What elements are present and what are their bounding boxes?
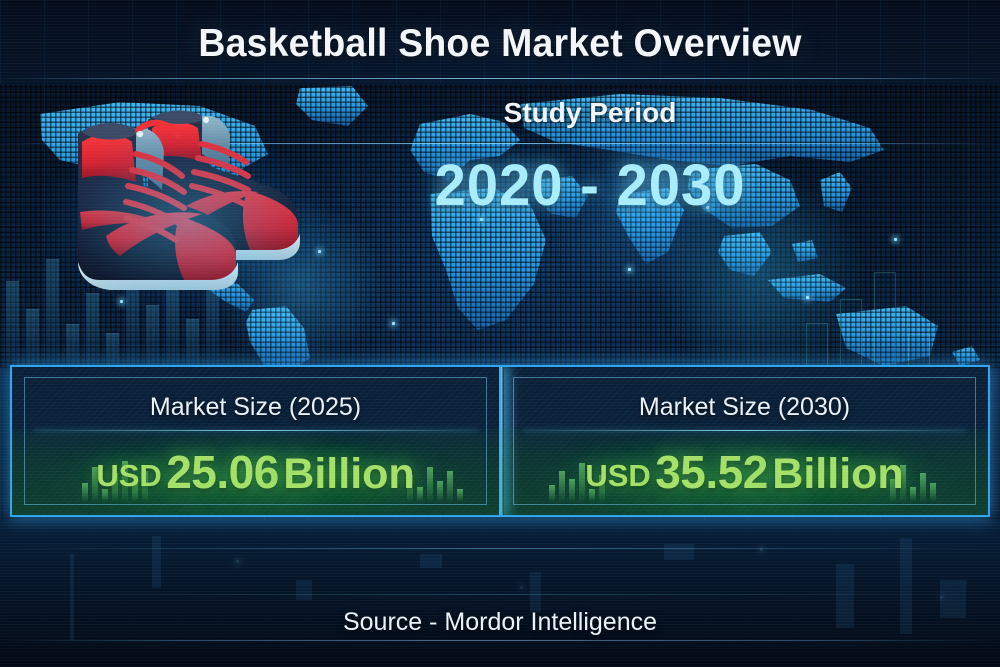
card-divider-line [523, 430, 966, 431]
amount-2025: 25.06 [166, 446, 279, 498]
unit-2025: Billion [283, 450, 414, 498]
card-label-2030: Market Size (2030) [501, 393, 988, 422]
study-period-label: Study Period [330, 97, 850, 129]
card-value-2025: USD 25.06 Billion [12, 445, 499, 499]
amount-2030: 35.52 [655, 446, 768, 498]
currency-2025: USD [96, 458, 161, 493]
bottom-texture-panel [0, 520, 1000, 667]
market-size-cards: Market Size (2025) USD 25.06 Billion Mar… [10, 365, 990, 517]
unit-2030: Billion [772, 450, 903, 498]
basketball-shoes-illustration [52, 92, 318, 292]
shoes-glow [40, 132, 330, 312]
market-size-card-2030: Market Size (2030) USD 35.52 Billion [499, 367, 988, 515]
page-title: Basketball Shoe Market Overview [20, 22, 980, 66]
infographic-canvas: Basketball Shoe Market Overview Study Pe… [0, 0, 1000, 667]
study-period-value: 2020 - 2030 [338, 152, 842, 219]
card-label-2025: Market Size (2025) [12, 393, 499, 422]
card-divider-line [34, 430, 477, 431]
source-divider [0, 640, 1000, 641]
market-size-card-2025: Market Size (2025) USD 25.06 Billion [12, 367, 499, 515]
background-bar-chart-right [806, 257, 930, 367]
currency-2030: USD [585, 458, 650, 493]
card-value-2030: USD 35.52 Billion [501, 445, 988, 499]
source-attribution: Source - Mordor Intelligence [0, 608, 1000, 637]
title-divider [0, 78, 1000, 79]
